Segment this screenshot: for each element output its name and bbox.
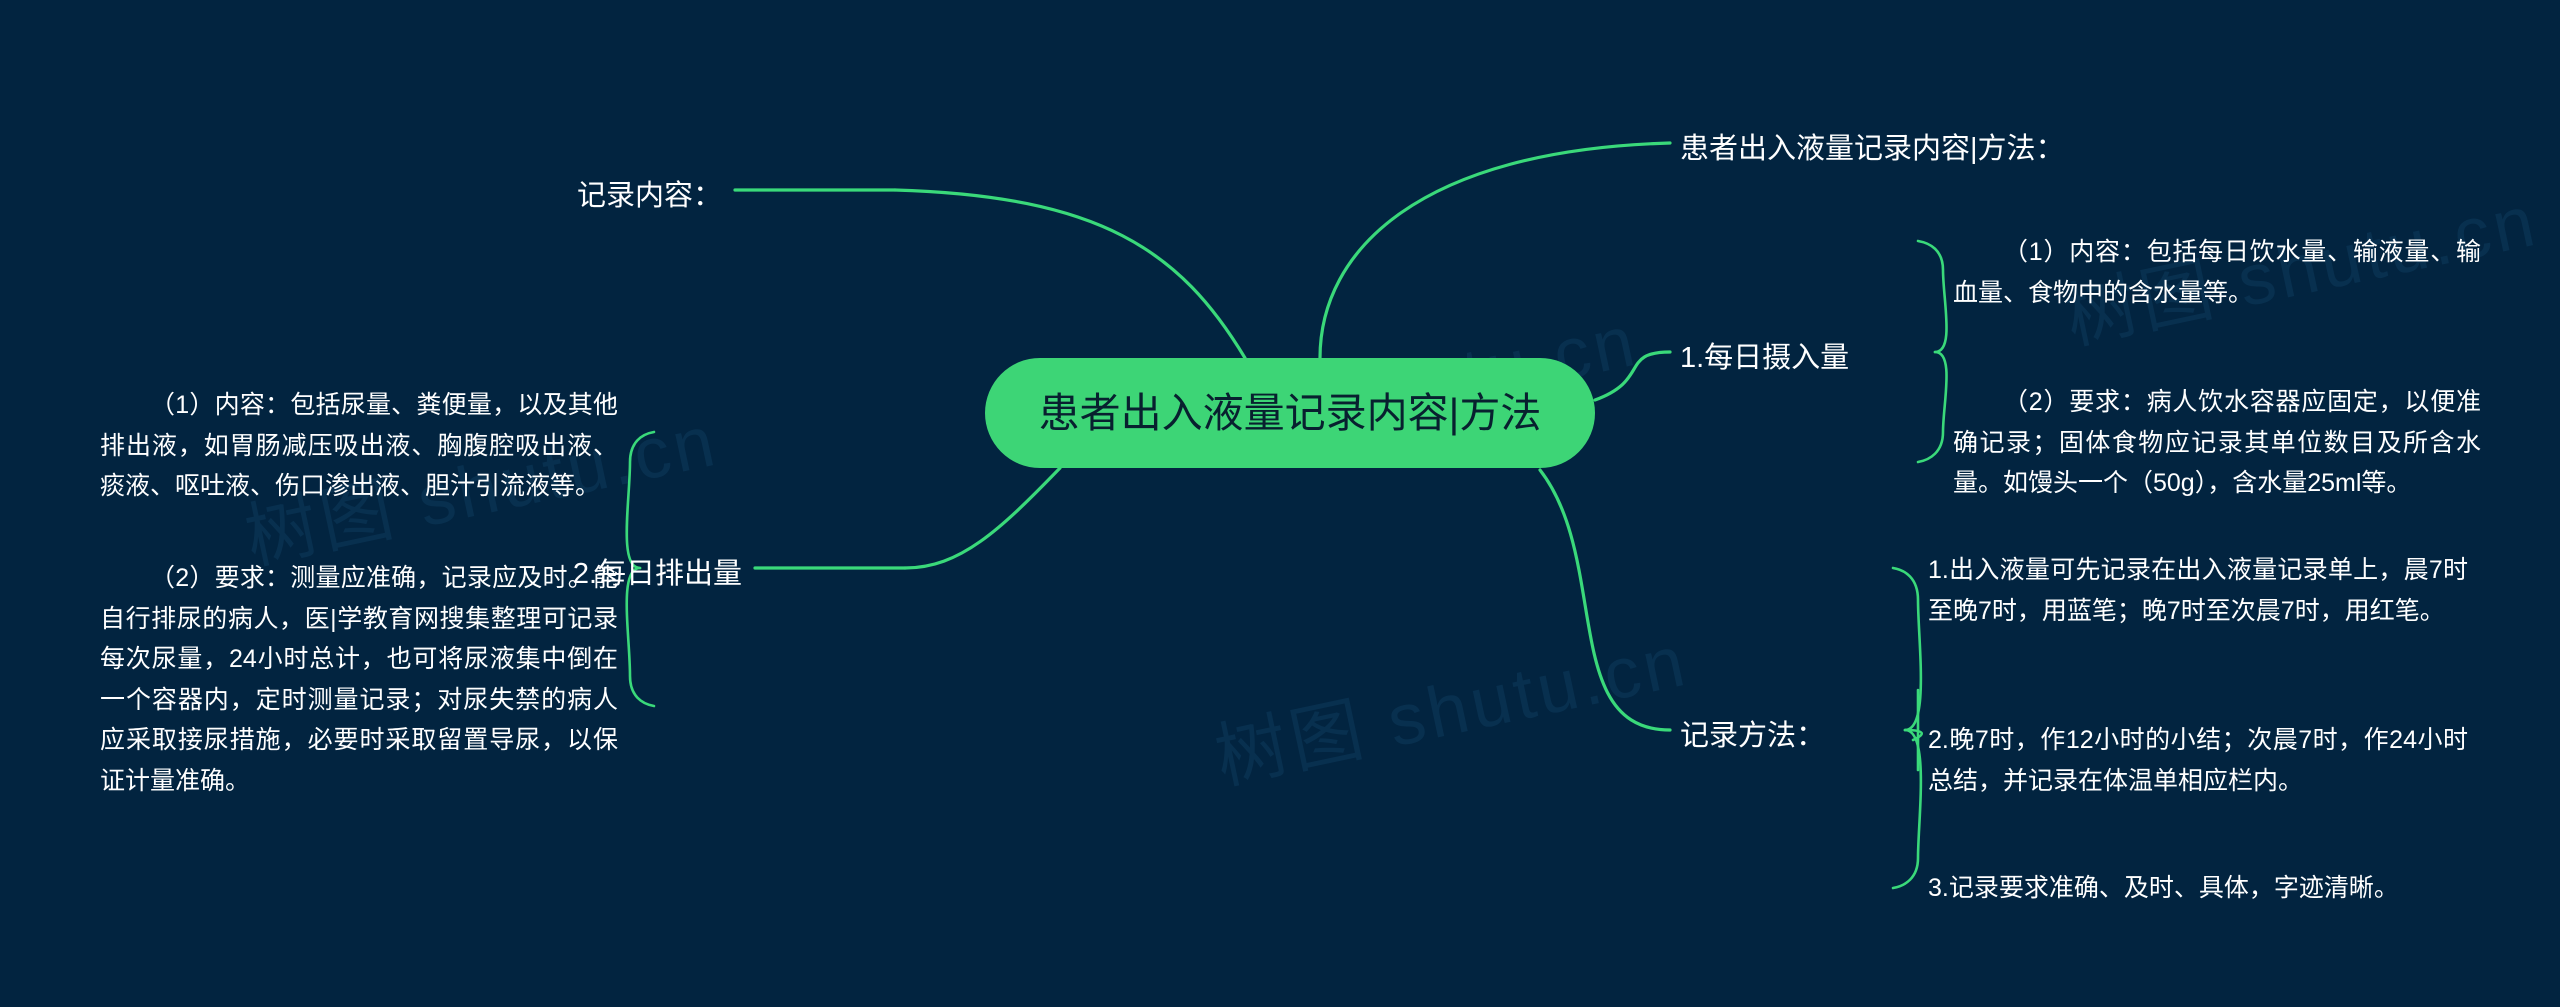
branch-label-right-1[interactable]: 1.每日摄入量 (1680, 337, 1849, 381)
leaf-right-2-1[interactable]: 2.晚7时，作12小时的小结；次晨7时，作24小时总结，并记录在体温单相应栏内。 (1928, 720, 2468, 801)
leaf-right-1-0[interactable]: （1）内容：包括每日饮水量、输液量、输血量、食物中的含水量等。 (1953, 232, 2481, 313)
branch-label-right-0[interactable]: 患者出入液量记录内容|方法： (1680, 128, 2065, 172)
leaf-right-1-1[interactable]: （2）要求：病人饮水容器应固定，以便准确记录；固体食物应记录其单位数目及所含水量… (1953, 382, 2481, 504)
leaf-left-1-1[interactable]: （2）要求：测量应准确，记录应及时。能自行排尿的病人，医|学教育网搜集整理可记录… (100, 558, 618, 801)
leaf-left-1-0[interactable]: （1）内容：包括尿量、粪便量，以及其他排出液，如胃肠减压吸出液、胸腹腔吸出液、痰… (100, 385, 618, 507)
mindmap-canvas: 树图 shutu.cn 树图 shutu.cn 树图 shutu.cn 树图 s… (0, 0, 2560, 1007)
leaf-right-2-2[interactable]: 3.记录要求准确、及时、具体，字迹清晰。 (1928, 868, 2468, 909)
branch-label-left-0[interactable]: 记录内容： (577, 175, 722, 219)
branch-label-right-2[interactable]: 记录方法： (1680, 715, 1825, 759)
leaf-right-2-0[interactable]: 1.出入液量可先记录在出入液量记录单上，晨7时至晚7时，用蓝笔；晚7时至次晨7时… (1928, 550, 2468, 631)
watermark-text: 树图 shutu.cn (1204, 601, 1696, 804)
root-node[interactable]: 患者出入液量记录内容|方法 (985, 358, 1595, 468)
